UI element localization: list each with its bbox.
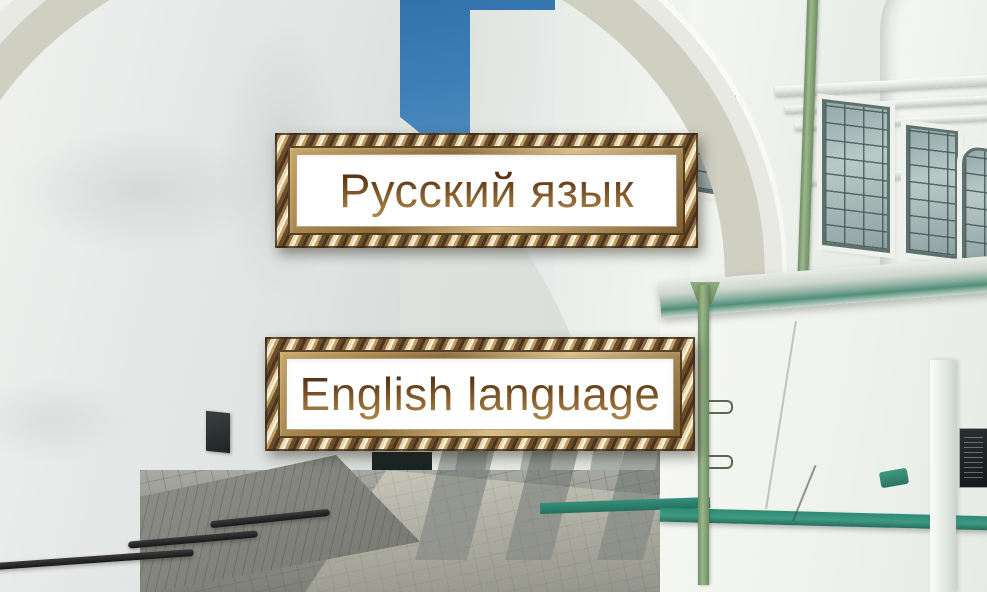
frame-panel: Русский язык [296, 154, 677, 227]
memorial-plaque [959, 428, 987, 488]
russian-language-frame[interactable]: Русский язык [275, 133, 698, 248]
wall-pilaster [930, 360, 956, 592]
frame-panel: English language [286, 358, 674, 430]
small-wall-plaque [206, 411, 230, 454]
english-language-label: English language [300, 367, 661, 421]
window [822, 99, 890, 253]
russian-language-label: Русский язык [339, 163, 634, 218]
drainpipe-green [698, 285, 709, 585]
window [906, 125, 958, 259]
slide-canvas: Русский язык English language [0, 0, 987, 592]
pipe-bracket [709, 400, 733, 414]
window-arched [962, 145, 987, 267]
pipe-bracket [709, 455, 733, 469]
plaque-inscription-lines [964, 437, 983, 479]
english-language-frame[interactable]: English language [265, 337, 695, 451]
background-photograph [0, 0, 987, 592]
